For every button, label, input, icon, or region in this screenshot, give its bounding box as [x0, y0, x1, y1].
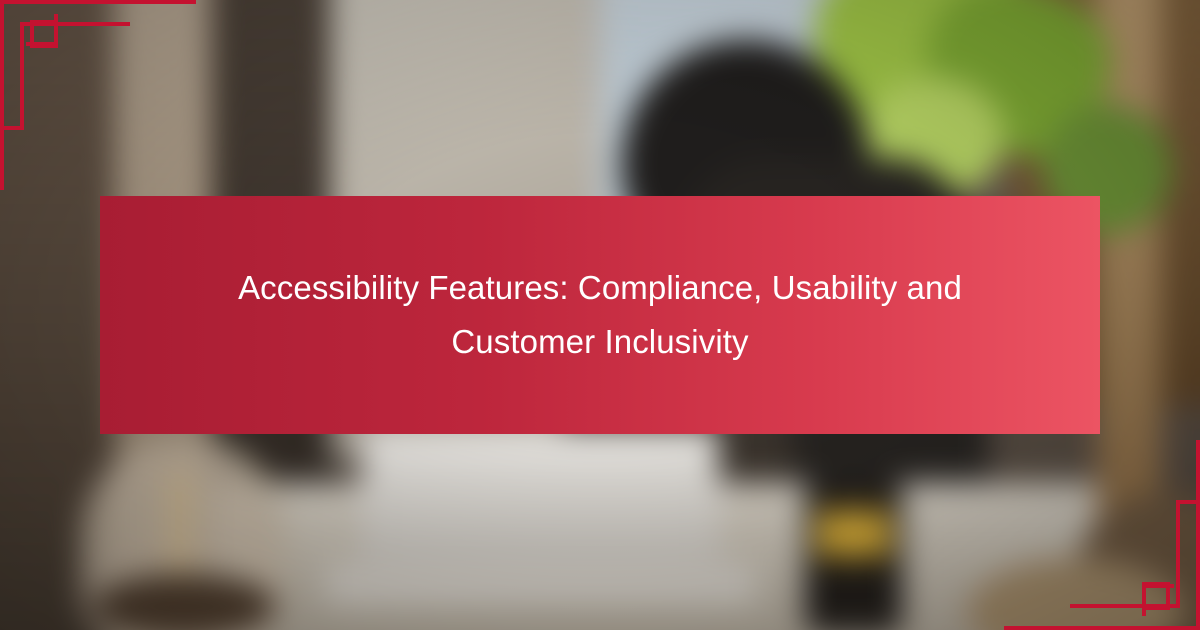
corner-bracket-ornament-bottom-right — [990, 430, 1200, 630]
page-title: Accessibility Features: Compliance, Usab… — [170, 261, 1030, 370]
corner-bracket-ornament-top-left — [0, 0, 210, 200]
title-banner: Accessibility Features: Compliance, Usab… — [100, 196, 1100, 434]
social-card: Accessibility Features: Compliance, Usab… — [0, 0, 1200, 630]
